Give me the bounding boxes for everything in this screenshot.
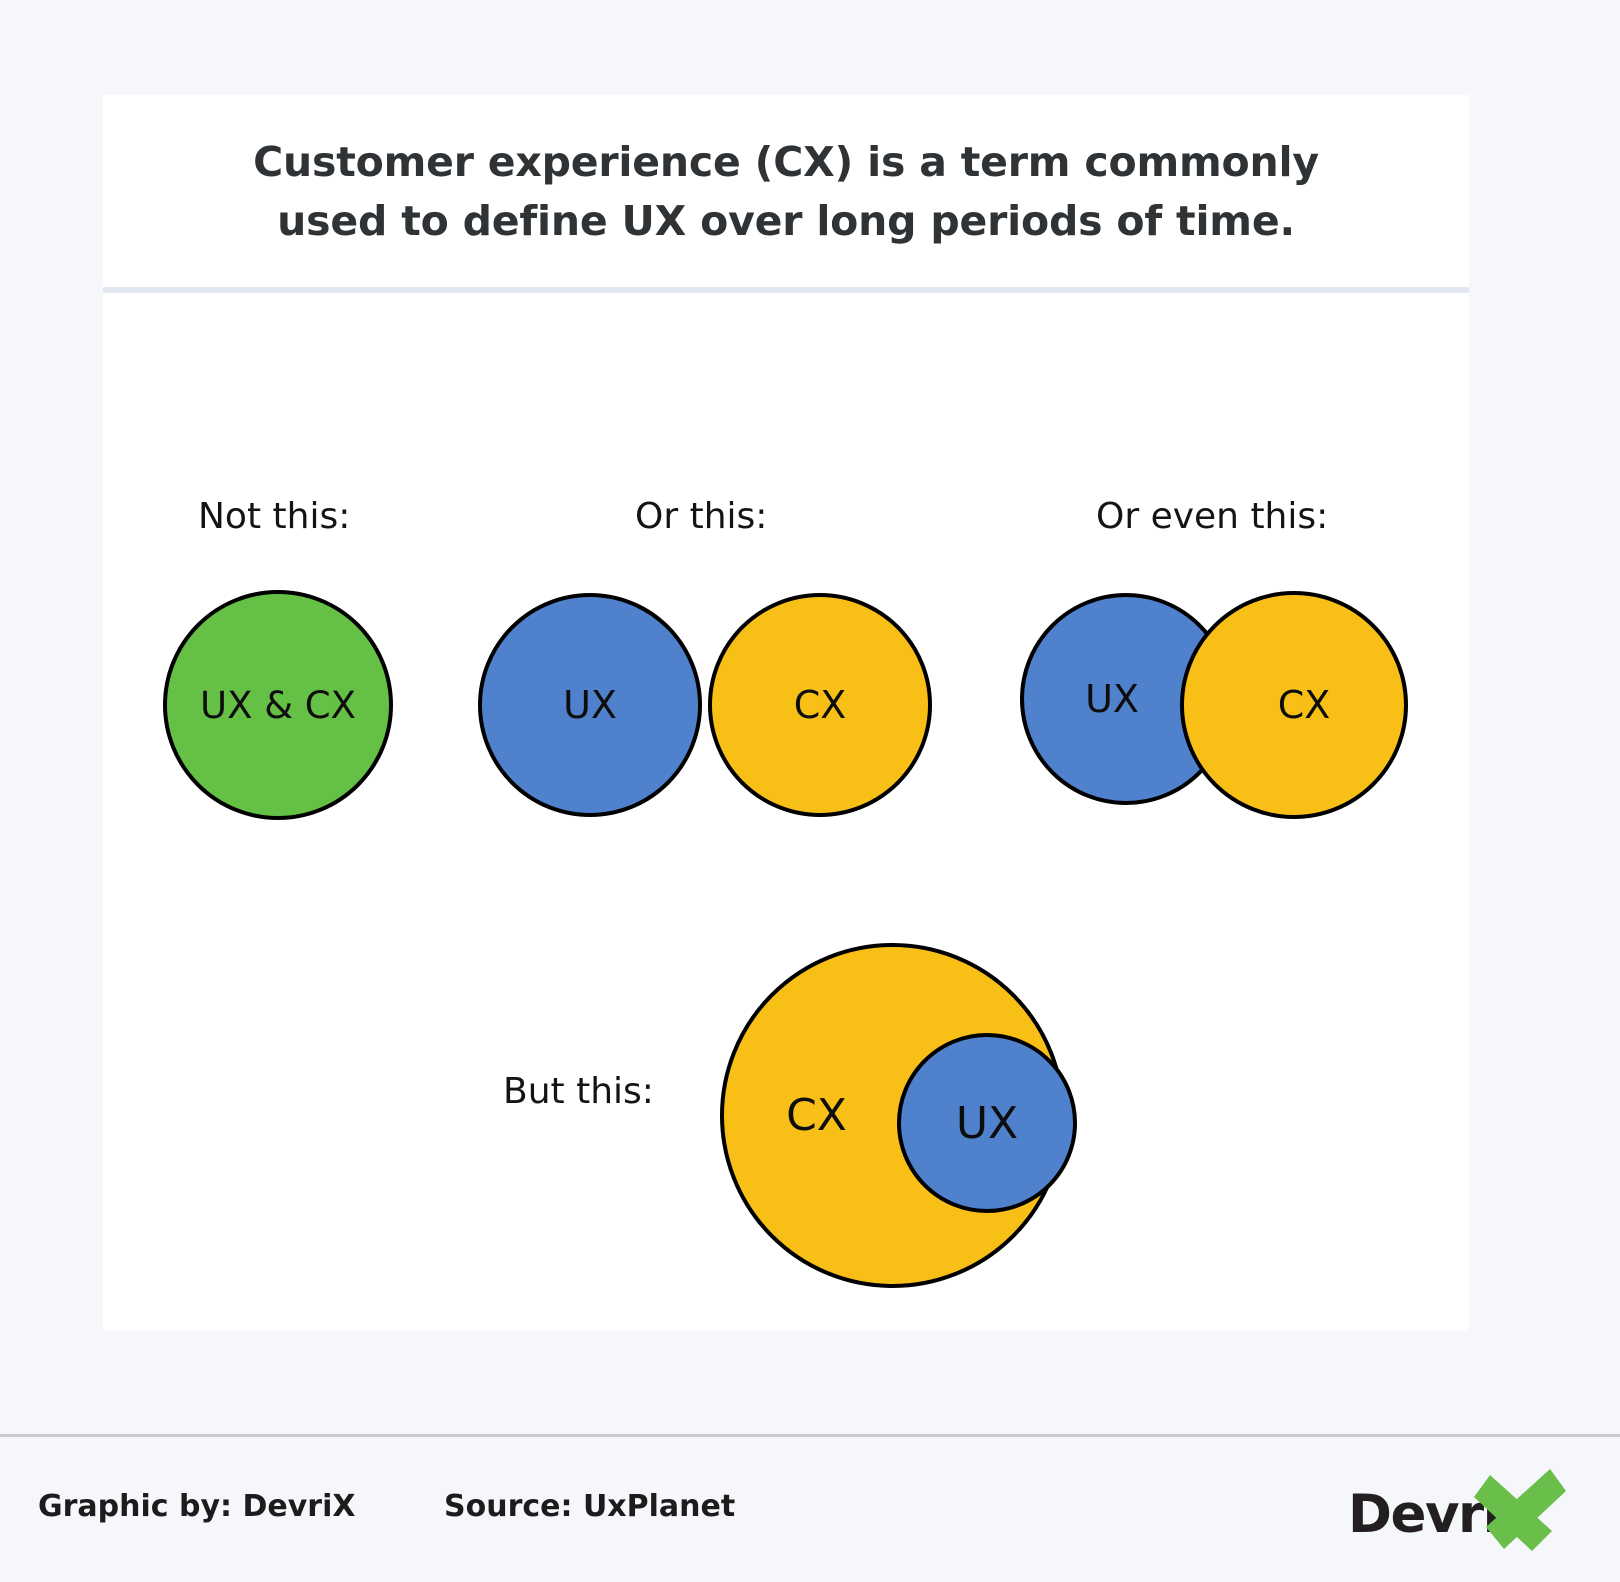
content-card: Customer experience (CX) is a term commo… <box>103 95 1469 1331</box>
group-label-or-this: Or this: <box>635 496 767 537</box>
circle-ux-and-cx: UX & CX <box>163 590 393 820</box>
footer-source: Source: UxPlanet <box>444 1489 735 1524</box>
circle-label-cx-containing: CX <box>786 1090 847 1141</box>
circle-ux-contained: UX <box>897 1033 1077 1213</box>
circle-label-ux-separate: UX <box>563 683 617 727</box>
title-block: Customer experience (CX) is a term commo… <box>103 95 1469 288</box>
footer-credit: Graphic by: DevriX <box>38 1489 356 1524</box>
group-label-not-this: Not this: <box>198 496 350 537</box>
group-label-or-even-this: Or even this: <box>1096 496 1328 537</box>
title-line-2: used to define UX over long periods of t… <box>277 197 1295 245</box>
group-label-but-this: But this: <box>503 1071 654 1112</box>
circle-cx-separate: CX <box>708 593 932 817</box>
circle-ux-separate: UX <box>478 593 702 817</box>
footer-bar: Graphic by: DevriX Source: UxPlanet Devr… <box>0 1437 1620 1582</box>
circle-cx-overlapping: CX <box>1180 591 1408 819</box>
title-line-1: Customer experience (CX) is a term commo… <box>253 138 1319 186</box>
venn-diagram-area: Not this: UX & CX Or this: UX CX Or even… <box>103 293 1469 1331</box>
devrix-x-icon <box>1474 1469 1566 1557</box>
devrix-logo: Devri <box>1348 1467 1578 1559</box>
nested-circles-wrap: CX UX <box>720 943 1090 1273</box>
circle-label-ux-contained: UX <box>956 1098 1018 1149</box>
circle-label-cx-separate: CX <box>794 683 847 727</box>
infographic-canvas: Customer experience (CX) is a term commo… <box>0 0 1620 1582</box>
circle-label-ux-and-cx: UX & CX <box>200 684 356 727</box>
circle-label-ux-overlapping: UX <box>1085 677 1139 721</box>
page-title: Customer experience (CX) is a term commo… <box>226 133 1346 249</box>
circle-label-cx-overlapping: CX <box>1278 683 1331 727</box>
